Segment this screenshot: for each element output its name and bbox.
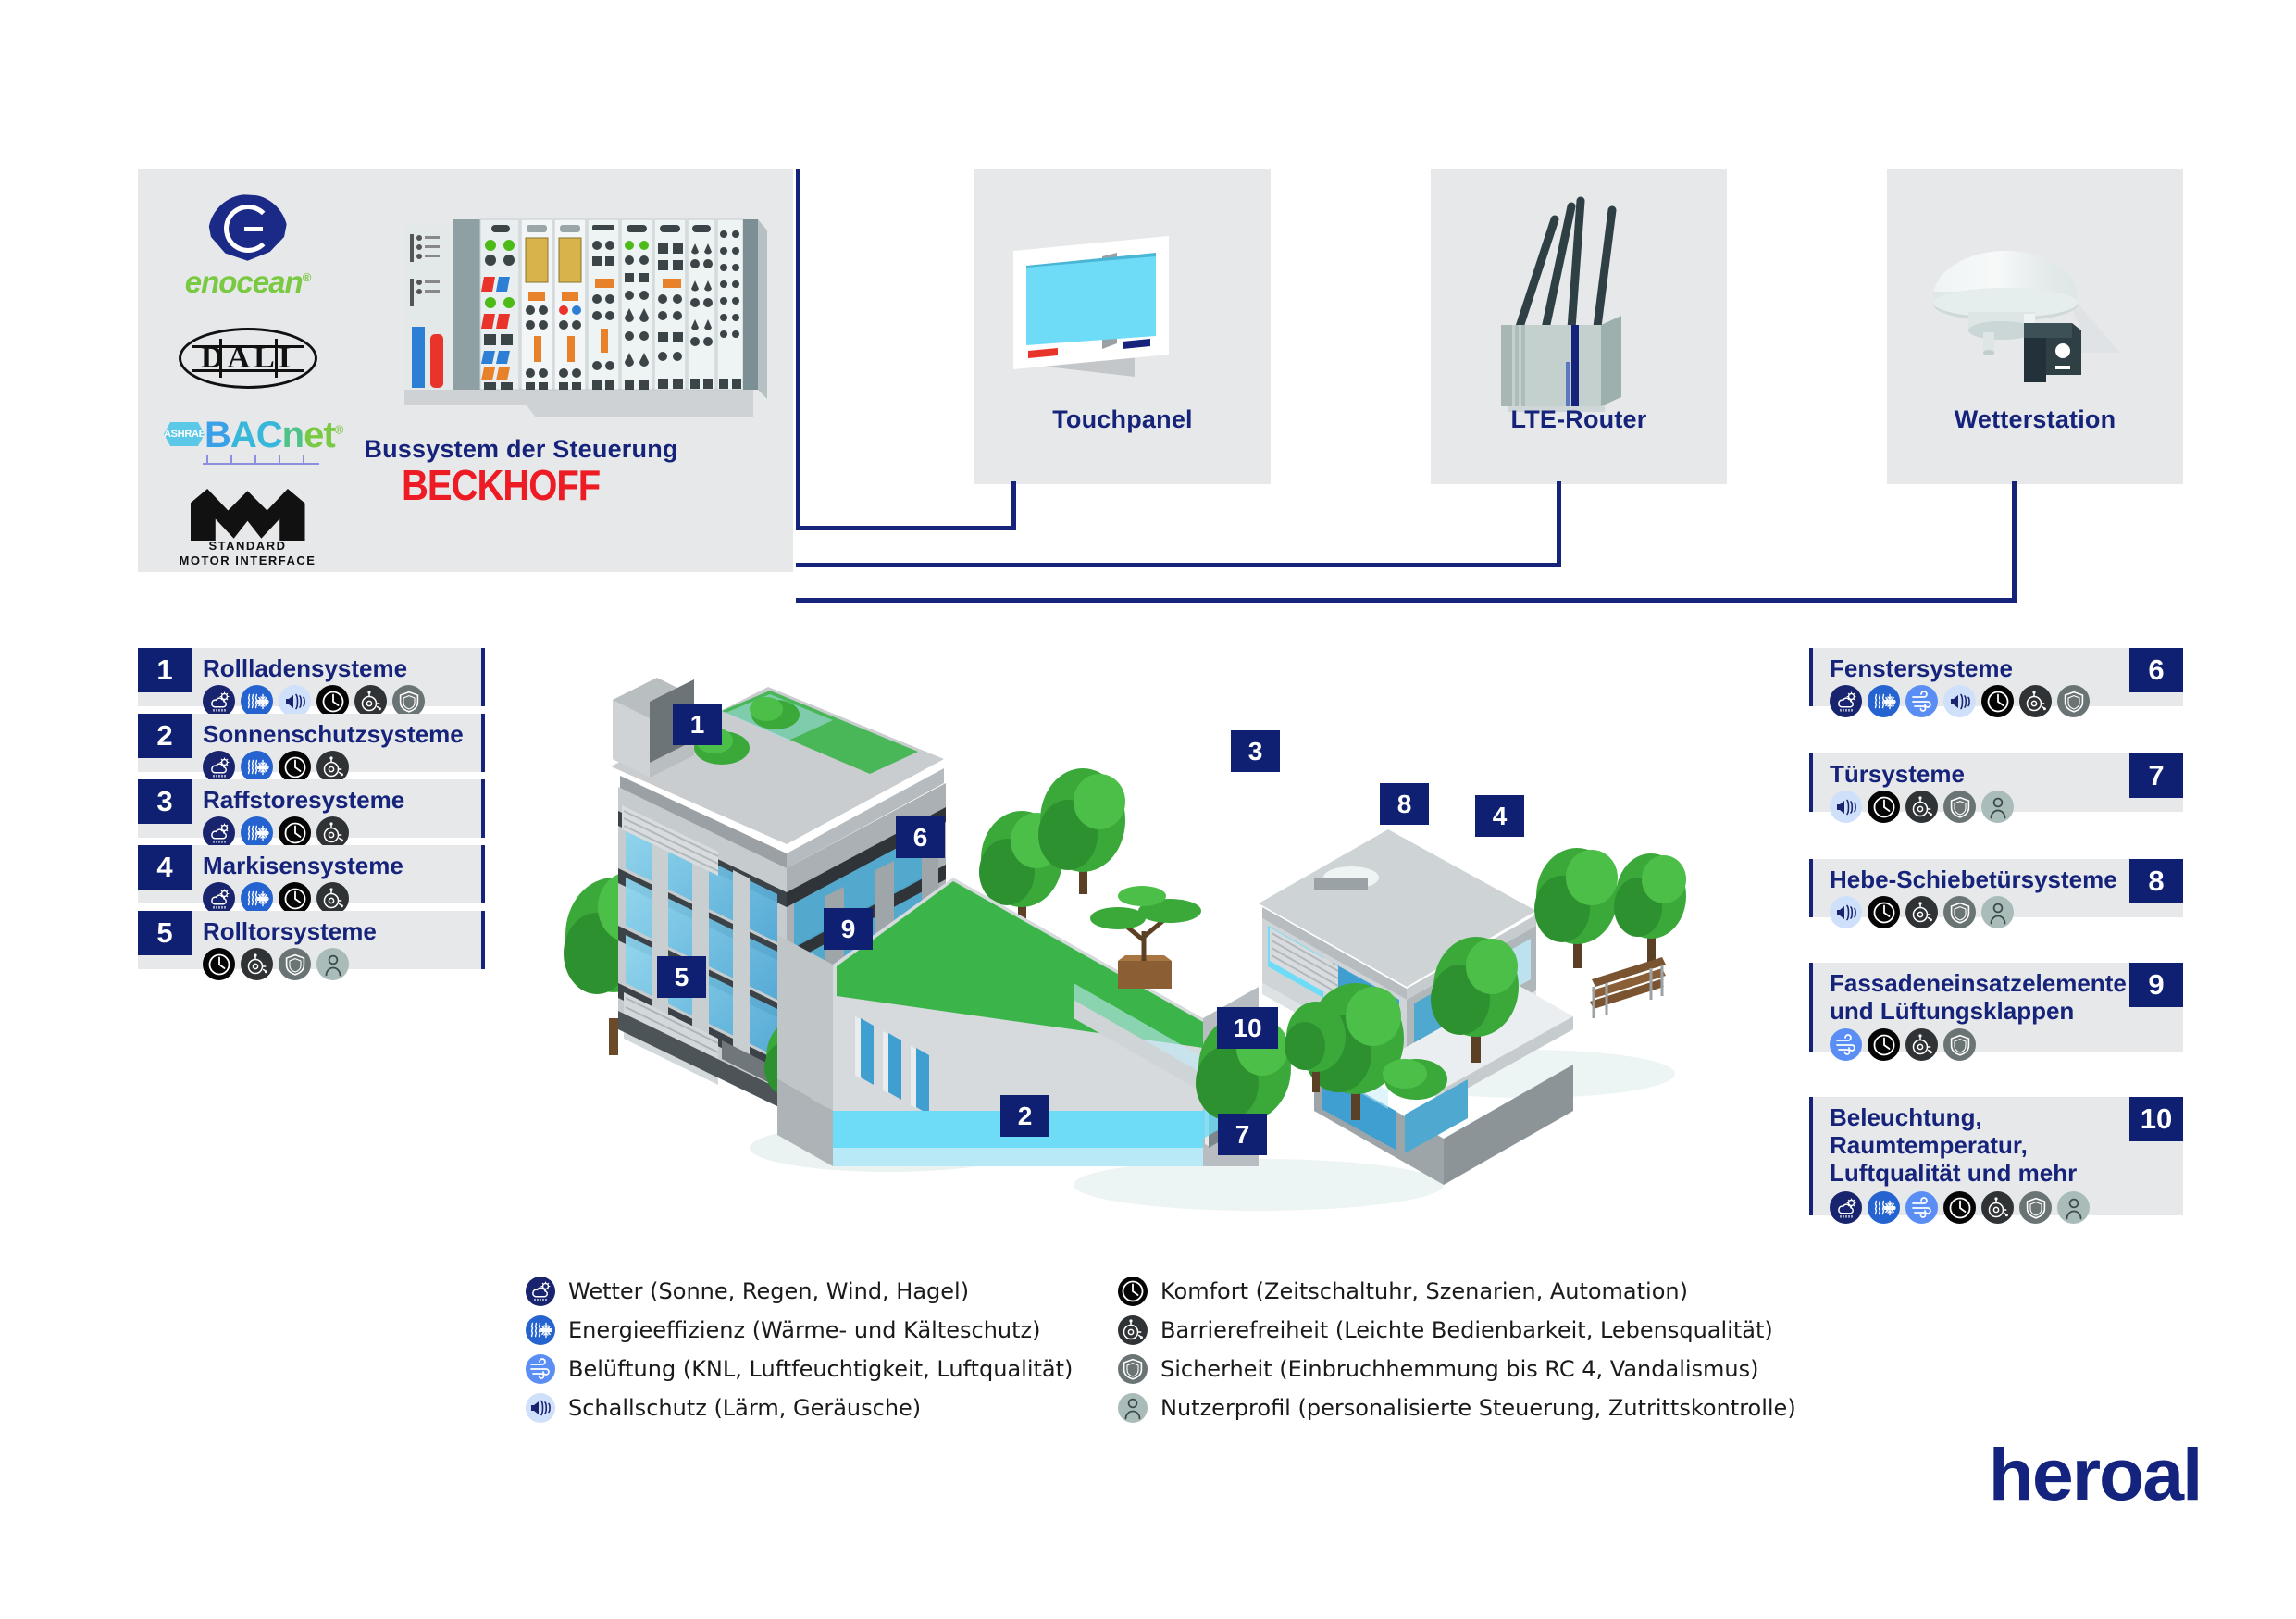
access-icon	[316, 751, 349, 783]
legend-item-comfort: Komfort (Zeitschaltuhr, Szenarien, Autom…	[1118, 1272, 1796, 1311]
illustration-marker-8[interactable]: 8	[1380, 783, 1429, 825]
beckhoff-logo: BECKHOFF	[402, 463, 600, 511]
smi-line1: STANDARD	[174, 539, 322, 553]
system-row-edge	[1809, 963, 1813, 1052]
legend-item-vent: Belüftung (KNL, Luftfeuchtigkeit, Luftqu…	[526, 1350, 1073, 1389]
legend-user-icon	[1118, 1393, 1148, 1423]
system-row-7[interactable]: 7Türsysteme	[1809, 753, 2183, 812]
smi-mark-icon	[191, 489, 305, 541]
access-icon	[1905, 791, 1938, 823]
sound-icon	[1830, 896, 1862, 928]
system-title-6: Fenstersysteme	[1830, 654, 2013, 682]
legend-item-security: Sicherheit (Einbruchhemmung bis RC 4, Va…	[1118, 1350, 1796, 1389]
enocean-registered-mark: ®	[303, 270, 311, 284]
system-feature-icons-3	[203, 816, 349, 849]
system-feature-icons-2	[203, 751, 349, 783]
user-icon	[1981, 896, 2014, 928]
sound-icon	[1830, 791, 1862, 823]
weather-icon	[203, 685, 235, 717]
legend-column-right: Komfort (Zeitschaltuhr, Szenarien, Autom…	[1118, 1272, 1796, 1427]
security-icon	[2019, 1191, 2052, 1224]
system-feature-icons-9	[1830, 1028, 1976, 1061]
weather-icon	[203, 882, 235, 915]
illustration-marker-7[interactable]: 7	[1218, 1114, 1267, 1155]
access-icon	[1981, 1191, 2014, 1224]
system-title-5: Rolltorsysteme	[203, 917, 377, 945]
system-title-2: Sonnenschutzsysteme	[203, 720, 464, 748]
system-title-3: Raffstoresysteme	[203, 786, 404, 814]
vent-icon	[1830, 1028, 1862, 1061]
system-title-1: Rollladensysteme	[203, 654, 407, 682]
system-row-4[interactable]: 4Markisensysteme	[138, 845, 485, 903]
system-title-8: Hebe-Schiebetürsysteme	[1830, 866, 2117, 893]
illustration-marker-10[interactable]: 10	[1217, 1007, 1278, 1049]
access-icon	[354, 685, 387, 717]
system-row-3[interactable]: 3Raffstoresysteme	[138, 779, 485, 838]
system-feature-icons-7	[1830, 791, 2014, 823]
comfort-icon	[279, 751, 311, 783]
connector-hline-weather	[796, 598, 2017, 603]
bus-terminal-illustration	[388, 206, 776, 438]
access-icon	[316, 882, 349, 915]
legend-item-access: Barrierefreiheit (Leichte Bedienbarkeit,…	[1118, 1311, 1796, 1350]
comfort-icon	[279, 882, 311, 915]
connector-vertical-main	[796, 169, 800, 530]
energy-icon	[1868, 1191, 1900, 1224]
heroal-logo: heroal	[1989, 1432, 2202, 1517]
legend-label-access: Barrierefreiheit (Leichte Bedienbarkeit,…	[1160, 1317, 1773, 1343]
connector-vstub-touchpanel	[1011, 481, 1016, 530]
access-icon	[2019, 685, 2052, 717]
illustration-marker-4[interactable]: 4	[1475, 795, 1524, 837]
legend-label-vent: Belüftung (KNL, Luftfeuchtigkeit, Luftqu…	[568, 1356, 1073, 1382]
legend-label-sound: Schallschutz (Lärm, Geräusche)	[568, 1395, 921, 1421]
panel-label-touchpanel: Touchpanel	[974, 405, 1271, 434]
system-number-badge-3: 3	[138, 779, 192, 824]
vent-icon	[1905, 1191, 1938, 1224]
access-icon	[316, 816, 349, 849]
energy-icon	[241, 816, 273, 849]
system-row-edge	[1809, 753, 1813, 812]
legend-item-energy: Energieeffizienz (Wärme- und Kälteschutz…	[526, 1311, 1073, 1350]
ashrae-badge-icon: ASHRAE	[164, 422, 205, 446]
system-number-badge-2: 2	[138, 714, 192, 758]
lte-router-illustration	[1484, 190, 1669, 412]
access-icon	[1905, 1028, 1938, 1061]
system-number-badge-8: 8	[2129, 859, 2183, 903]
energy-icon	[1868, 685, 1900, 717]
legend-label-security: Sicherheit (Einbruchhemmung bis RC 4, Va…	[1160, 1356, 1759, 1382]
touchpanel-illustration	[1010, 236, 1222, 384]
system-row-edge	[481, 714, 485, 772]
sound-icon	[279, 685, 311, 717]
legend-label-weather: Wetter (Sonne, Regen, Wind, Hagel)	[568, 1278, 969, 1304]
access-icon	[241, 948, 273, 980]
weather-icon	[203, 816, 235, 849]
panel-touchpanel[interactable]: Touchpanel	[974, 169, 1271, 484]
legend-vent-icon	[526, 1354, 555, 1384]
system-row-1[interactable]: 1Rollladensysteme	[138, 648, 485, 706]
weather-icon	[203, 751, 235, 783]
connector-vstub-weather	[2012, 481, 2017, 603]
legend-item-user: Nutzerprofil (personalisierte Steuerung,…	[1118, 1389, 1796, 1427]
system-row-9[interactable]: 9Fassadeneinsatzelementeund Lüftungsklap…	[1809, 963, 2183, 1052]
enocean-logo: enocean®	[162, 194, 333, 300]
vent-icon	[1905, 685, 1938, 717]
legend-item-weather: Wetter (Sonne, Regen, Wind, Hagel)	[526, 1272, 1073, 1311]
system-row-10[interactable]: 10Beleuchtung,Raumtemperatur,Luftqualitä…	[1809, 1097, 2183, 1215]
user-icon	[2057, 1191, 2090, 1224]
comfort-icon	[1868, 1028, 1900, 1061]
panel-label-bussystem: Bussystem der Steuerung	[249, 435, 793, 464]
sound-icon	[1943, 685, 1976, 717]
system-feature-icons-5	[203, 948, 349, 980]
connector-hline-router	[796, 563, 1561, 567]
energy-icon	[241, 882, 273, 915]
system-number-badge-6: 6	[2129, 648, 2183, 692]
legend-energy-icon	[526, 1315, 555, 1345]
protocol-logo-column: enocean® DALI ASHRAE BACnet®	[162, 194, 333, 567]
comfort-icon	[1981, 685, 2014, 717]
system-row-2[interactable]: 2Sonnenschutzsysteme	[138, 714, 485, 772]
enocean-mark-icon	[208, 194, 288, 263]
weather-icon	[1830, 1191, 1862, 1224]
illustration-marker-3[interactable]: 3	[1231, 730, 1280, 772]
comfort-icon	[316, 685, 349, 717]
system-title-10: Beleuchtung,Raumtemperatur,Luftqualität …	[1830, 1103, 2077, 1187]
panel-wetterstation[interactable]: Wetterstation	[1887, 169, 2183, 484]
comfort-icon	[1868, 896, 1900, 928]
park-bench	[1590, 957, 1666, 1018]
security-icon	[1943, 791, 1976, 823]
legend-item-sound: Schallschutz (Lärm, Geräusche)	[526, 1389, 1073, 1427]
user-icon	[1981, 791, 2014, 823]
system-number-badge-9: 9	[2129, 963, 2183, 1007]
legend-column-left: Wetter (Sonne, Regen, Wind, Hagel) Energ…	[526, 1272, 1073, 1427]
security-icon	[392, 685, 425, 717]
energy-icon	[241, 751, 273, 783]
legend-label-comfort: Komfort (Zeitschaltuhr, Szenarien, Autom…	[1160, 1278, 1688, 1304]
energy-icon	[241, 685, 273, 717]
comfort-icon	[279, 816, 311, 849]
illustration-marker-2[interactable]: 2	[1000, 1095, 1049, 1137]
security-icon	[279, 948, 311, 980]
panel-label-lte-router: LTE-Router	[1431, 405, 1727, 434]
system-feature-icons-4	[203, 882, 349, 915]
security-icon	[2057, 685, 2090, 717]
system-title-9: Fassadeneinsatzelementeund Lüftungsklapp…	[1830, 969, 2127, 1025]
system-row-edge	[1809, 1097, 1813, 1215]
connector-hline-touchpanel	[796, 526, 1016, 530]
weather-icon	[1830, 685, 1862, 717]
system-row-6[interactable]: 6Fenstersysteme	[1809, 648, 2183, 706]
legend-sound-icon	[526, 1393, 555, 1423]
dali-logo: DALI	[162, 328, 333, 389]
wetterstation-illustration	[1924, 234, 2155, 382]
legend-label-user: Nutzerprofil (personalisierte Steuerung,…	[1160, 1395, 1796, 1421]
illustration-marker-5[interactable]: 5	[657, 956, 706, 998]
system-row-edge	[1809, 859, 1813, 917]
panel-bussystem[interactable]: enocean® DALI ASHRAE BACnet®	[138, 169, 793, 572]
dali-logo-label: DALI	[179, 341, 317, 376]
panel-lte-router[interactable]: LTE-Router	[1431, 169, 1727, 484]
system-number-badge-4: 4	[138, 845, 192, 890]
system-row-8[interactable]: 8Hebe-Schiebetürsysteme	[1809, 859, 2183, 917]
security-icon	[1943, 1028, 1976, 1061]
system-feature-icons-6	[1830, 685, 2090, 717]
comfort-icon	[1868, 791, 1900, 823]
legend-security-icon	[1118, 1354, 1148, 1384]
system-row-edge	[481, 779, 485, 838]
system-feature-icons-8	[1830, 896, 2014, 928]
system-row-edge	[481, 911, 485, 969]
system-row-edge	[1809, 648, 1813, 706]
illustration-marker-6[interactable]: 6	[896, 816, 945, 858]
comfort-icon	[203, 948, 235, 980]
access-icon	[1905, 896, 1938, 928]
connector-vstub-router	[1557, 481, 1561, 567]
system-row-edge	[481, 845, 485, 903]
legend-label-energy: Energieeffizienz (Wärme- und Kälteschutz…	[568, 1317, 1040, 1343]
system-number-badge-7: 7	[2129, 753, 2183, 798]
system-row-5[interactable]: 5Rolltorsysteme	[138, 911, 485, 969]
comfort-icon	[1943, 1191, 1976, 1224]
system-number-badge-10: 10	[2129, 1097, 2183, 1141]
system-row-edge	[481, 648, 485, 706]
legend-access-icon	[1118, 1315, 1148, 1345]
panel-label-wetterstation: Wetterstation	[1887, 405, 2183, 434]
user-icon	[316, 948, 349, 980]
system-number-badge-1: 1	[138, 648, 192, 692]
illustration-marker-9[interactable]: 9	[824, 908, 873, 950]
system-title-7: Türsysteme	[1830, 760, 1965, 788]
legend-comfort-icon	[1118, 1277, 1148, 1306]
security-icon	[1943, 896, 1976, 928]
legend-weather-icon	[526, 1277, 555, 1306]
system-title-4: Markisensysteme	[203, 852, 403, 879]
enocean-logo-label: enocean	[185, 265, 303, 299]
smi-logo: STANDARD MOTOR INTERFACE	[162, 489, 333, 567]
system-feature-icons-10	[1830, 1191, 2090, 1224]
smi-line2: MOTOR INTERFACE	[174, 554, 322, 567]
illustration-marker-1[interactable]: 1	[673, 704, 722, 745]
system-number-badge-5: 5	[138, 911, 192, 955]
system-feature-icons-1	[203, 685, 425, 717]
building-complex-illustration	[555, 629, 1777, 1222]
